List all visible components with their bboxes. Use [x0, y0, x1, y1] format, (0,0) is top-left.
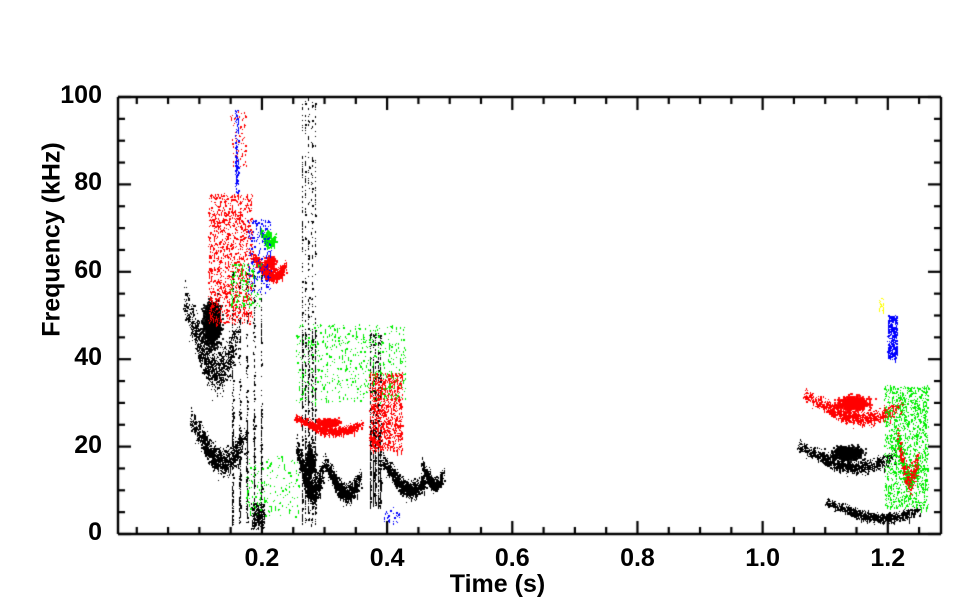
x-axis-label-text: Time (s) — [450, 570, 545, 598]
y-tick-label-100: 100 — [2, 81, 102, 110]
x-tick-label-0-2: 0.2 — [202, 544, 322, 573]
x-tick-label-1-2: 1.2 — [828, 544, 948, 573]
x-tick-label-1-0: 1.0 — [703, 544, 823, 573]
y-tick-label-80: 80 — [2, 168, 102, 197]
x-tick-label-0-8: 0.8 — [577, 544, 697, 573]
spectrogram-figure: Shot 134258 ωB(ω) spectrum for toroidal … — [0, 0, 963, 615]
y-tick-label-20: 20 — [2, 431, 102, 460]
y-tick-label-40: 40 — [2, 343, 102, 372]
x-tick-label-0-6: 0.6 — [452, 544, 572, 573]
x-axis-label: Time (s) — [0, 570, 963, 599]
spectrogram-plot-area — [0, 0, 963, 615]
y-tick-label-0: 0 — [2, 518, 102, 547]
x-tick-label-0-4: 0.4 — [327, 544, 447, 573]
y-axis-label: Frequency (kHz) — [38, 130, 67, 350]
y-tick-label-60: 60 — [2, 256, 102, 285]
